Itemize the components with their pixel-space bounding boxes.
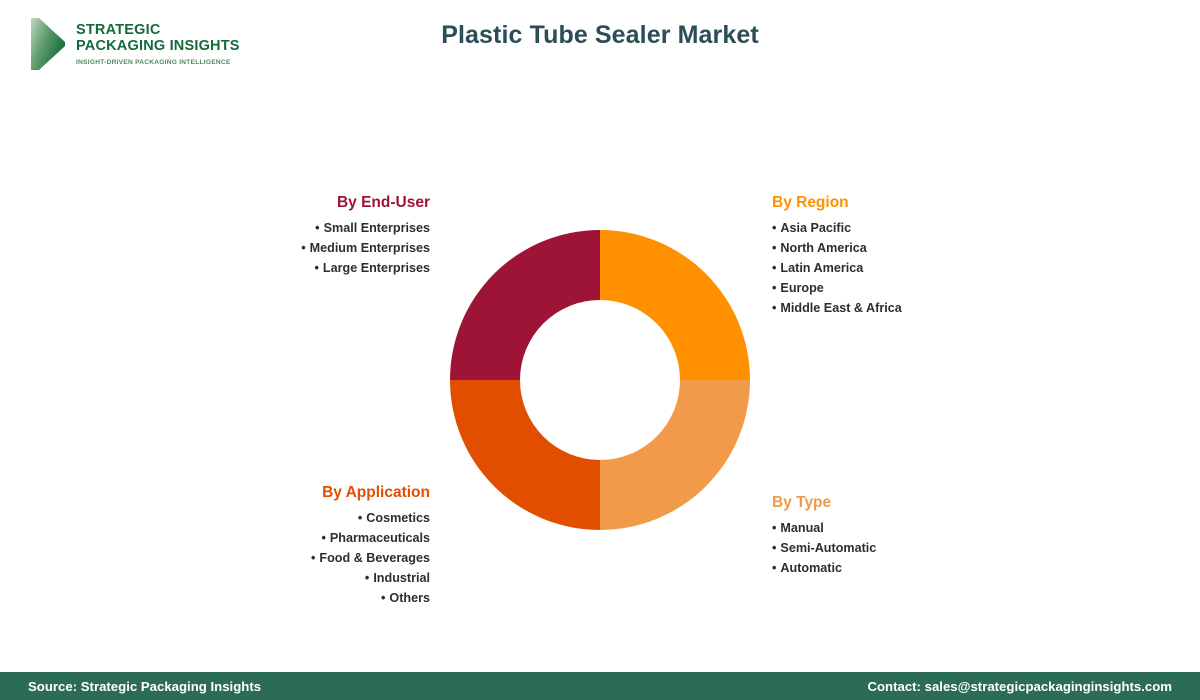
bullet-icon: • [772, 301, 776, 315]
list-item-label: Automatic [780, 561, 842, 575]
list-item: •Food & Beverages [180, 548, 430, 568]
list-item-label: Pharmaceuticals [330, 531, 430, 545]
bullet-icon: • [321, 531, 325, 545]
list-item: •Latin America [772, 258, 1032, 278]
list-item: •Manual [772, 518, 1032, 538]
list-item-label: Others [389, 591, 430, 605]
donut-slice-application[interactable] [450, 380, 600, 530]
list-item-label: Semi-Automatic [780, 541, 876, 555]
list-item: •Small Enterprises [190, 218, 430, 238]
bullet-icon: • [381, 591, 385, 605]
footer-source: Source: Strategic Packaging Insights [28, 679, 261, 694]
list-item-label: Latin America [780, 261, 863, 275]
bullet-icon: • [772, 541, 776, 555]
bullet-icon: • [772, 221, 776, 235]
list-item: •Cosmetics [180, 508, 430, 528]
list-item: •Industrial [180, 568, 430, 588]
list-item: •Medium Enterprises [190, 238, 430, 258]
donut-chart [450, 230, 750, 530]
list-item: •Pharmaceuticals [180, 528, 430, 548]
list-item: •Europe [772, 278, 1032, 298]
bullet-icon: • [365, 571, 369, 585]
segment-end-user: By End-User •Small Enterprises •Medium E… [190, 194, 430, 278]
segment-type: By Type •Manual •Semi-Automatic •Automat… [772, 494, 1032, 578]
segment-end-user-heading: By End-User [190, 194, 430, 212]
list-item-label: Industrial [373, 571, 430, 585]
bullet-icon: • [311, 551, 315, 565]
segment-type-list: •Manual •Semi-Automatic •Automatic [772, 518, 1032, 578]
list-item: •North America [772, 238, 1032, 258]
segment-region-heading: By Region [772, 194, 1032, 212]
bullet-icon: • [301, 241, 305, 255]
segment-region: By Region •Asia Pacific •North America •… [772, 194, 1032, 318]
bullet-icon: • [772, 281, 776, 295]
page-title: Plastic Tube Sealer Market [0, 21, 1200, 50]
segment-application-list: •Cosmetics •Pharmaceuticals •Food & Beve… [180, 508, 430, 608]
list-item-label: Manual [780, 521, 823, 535]
list-item-label: Europe [780, 281, 823, 295]
bullet-icon: • [358, 511, 362, 525]
list-item-label: Asia Pacific [780, 221, 851, 235]
list-item: •Others [180, 588, 430, 608]
list-item-label: Cosmetics [366, 511, 430, 525]
list-item: •Asia Pacific [772, 218, 1032, 238]
footer-contact[interactable]: Contact: sales@strategicpackaginginsight… [867, 679, 1172, 694]
logo-tagline: INSIGHT-DRIVEN PACKAGING INTELLIGENCE [76, 59, 240, 66]
list-item: •Middle East & Africa [772, 298, 1032, 318]
footer-bar: Source: Strategic Packaging Insights Con… [0, 672, 1200, 700]
segment-end-user-list: •Small Enterprises •Medium Enterprises •… [190, 218, 430, 278]
list-item-label: North America [780, 241, 866, 255]
donut-chart-svg [450, 230, 750, 530]
list-item-label: Middle East & Africa [780, 301, 901, 315]
segment-application: By Application •Cosmetics •Pharmaceutica… [180, 484, 430, 608]
list-item: •Large Enterprises [190, 258, 430, 278]
donut-slice-region[interactable] [600, 230, 750, 380]
segment-type-heading: By Type [772, 494, 1032, 512]
donut-slice-end-user[interactable] [450, 230, 600, 380]
list-item-label: Food & Beverages [319, 551, 430, 565]
segment-application-heading: By Application [180, 484, 430, 502]
segment-region-list: •Asia Pacific •North America •Latin Amer… [772, 218, 1032, 318]
donut-slice-type[interactable] [600, 380, 750, 530]
bullet-icon: • [772, 261, 776, 275]
bullet-icon: • [772, 521, 776, 535]
list-item-label: Large Enterprises [323, 261, 430, 275]
list-item-label: Medium Enterprises [310, 241, 430, 255]
bullet-icon: • [772, 561, 776, 575]
bullet-icon: • [315, 221, 319, 235]
bullet-icon: • [772, 241, 776, 255]
list-item-label: Small Enterprises [324, 221, 430, 235]
list-item: •Semi-Automatic [772, 538, 1032, 558]
list-item: •Automatic [772, 558, 1032, 578]
bullet-icon: • [314, 261, 318, 275]
